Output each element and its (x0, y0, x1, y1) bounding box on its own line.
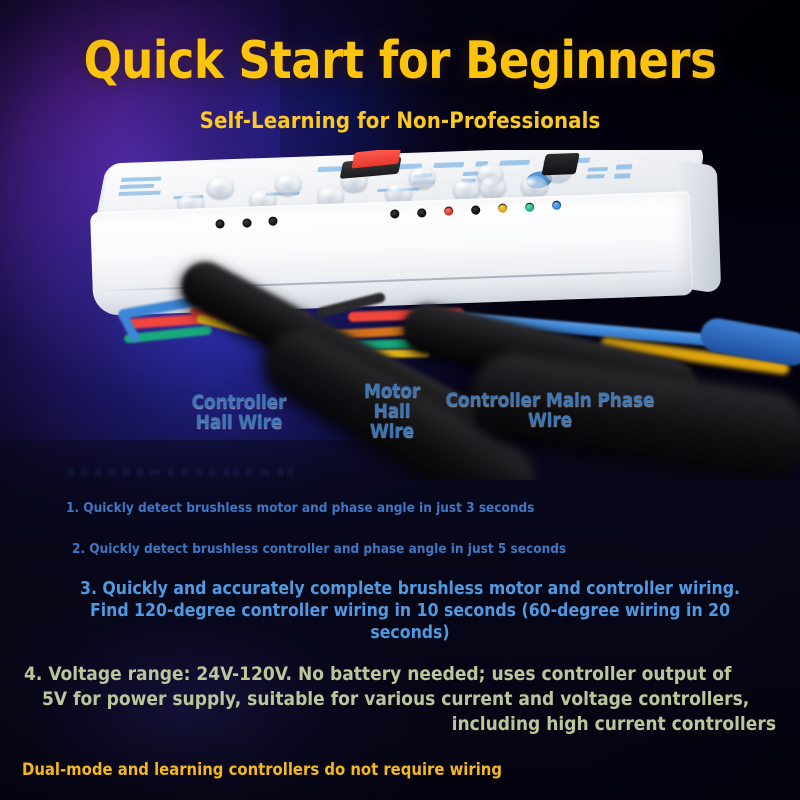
footnote-text: Dual-mode and learning controllers do no… (22, 760, 502, 779)
callout-line: Controller (192, 391, 287, 413)
promo-image: Quick Start for Beginners Self-Learning … (0, 0, 800, 800)
callout-line: Hall (374, 400, 411, 422)
product-photo: Controller Hall Wire Motor Hall Wire Con… (0, 150, 800, 480)
feature-item-1: 1. Quickly detect brushless motor and ph… (66, 500, 534, 516)
push-button-black[interactable] (541, 153, 579, 175)
led-indicator (207, 176, 234, 199)
callout-line: Controller Main Phase (446, 389, 655, 411)
led-indicator (409, 166, 436, 189)
feature-4-line-1: 4. Voltage range: 24V-120V. No battery n… (24, 662, 776, 687)
callout-line: Motor (364, 380, 420, 402)
feature-item-2: 2. Quickly detect brushless controller a… (72, 541, 566, 557)
feature-4-line-3: including high current controllers (24, 712, 776, 737)
feature-item-3: 3. Quickly and accurately complete brush… (60, 578, 760, 644)
led-indicator (521, 175, 548, 198)
callout-line: Wire (370, 420, 414, 442)
page-title: Quick Start for Beginners (16, 33, 784, 89)
callout-controller-main-phase-wire: Controller Main Phase Wire (430, 391, 670, 431)
led-indicator (479, 176, 506, 199)
feature-item-4: 4. Voltage range: 24V-120V. No battery n… (24, 662, 776, 737)
led-indicator (275, 173, 302, 196)
callout-line: Wire (528, 409, 572, 431)
callout-controller-hall-wire: Controller Hall Wire (163, 393, 315, 433)
ghost-text-line: ▪ ▪ ▪ ▪ ▪ ▪ ▬ ▪ ▪ ▪ ▪ ▪▪ ▪ ▬ ▪▪ (66, 462, 606, 480)
callout-motor-hall-wire: Motor Hall Wire (340, 382, 444, 441)
feature-4-line-2: 5V for power supply, suitable for variou… (24, 687, 776, 712)
page-subtitle: Self-Learning for Non-Professionals (0, 109, 800, 135)
callout-line: Hall Wire (196, 411, 282, 433)
